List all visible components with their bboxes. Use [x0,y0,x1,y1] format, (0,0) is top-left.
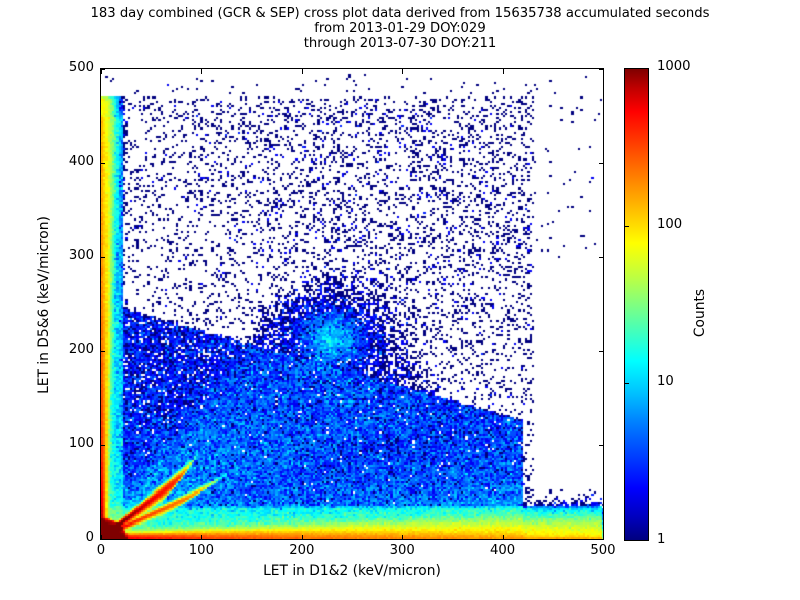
figure-title: 183 day combined (GCR & SEP) cross plot … [0,6,800,51]
y-tick-400 [100,163,105,164]
y-tick-500 [100,69,105,70]
x-tick-300 [402,535,403,540]
title-line-2: from 2013-01-29 DOY:029 [0,21,800,36]
y-tick-right-400 [599,163,604,164]
colorbar-tick-100 [624,226,629,227]
x-tick-top-200 [302,69,303,74]
plot-area [100,68,604,540]
title-line-1: 183 day combined (GCR & SEP) cross plot … [0,6,800,21]
colorbar [624,68,649,541]
title-line-3: through 2013-07-30 DOY:211 [0,36,800,51]
y-tick-100 [100,445,105,446]
x-tick-top-100 [201,69,202,74]
y-tick-right-500 [599,69,604,70]
figure-canvas: 183 day combined (GCR & SEP) cross plot … [0,0,800,600]
x-tick-label-100: 100 [166,543,236,558]
colorbar-tick-10 [624,383,629,384]
x-tick-top-400 [503,69,504,74]
x-tick-label-300: 300 [367,543,437,558]
y-tick-200 [100,351,105,352]
x-tick-200 [302,535,303,540]
y-tick-300 [100,257,105,258]
colorbar-tick-label-1: 1 [657,532,665,547]
x-tick-label-400: 400 [468,543,538,558]
x-tick-100 [201,535,202,540]
y-tick-right-100 [599,445,604,446]
y-tick-right-300 [599,257,604,258]
colorbar-tick-label-1000: 1000 [657,59,691,74]
x-tick-label-200: 200 [267,543,337,558]
y-axis-label: LET in D5&6 (keV/micron) [36,165,52,445]
y-tick-right-0 [599,539,604,540]
colorbar-tick-label-10: 10 [657,374,674,389]
y-tick-label-0: 0 [38,530,94,545]
x-axis-label: LET in D1&2 (keV/micron) [100,563,604,579]
y-tick-0 [100,539,105,540]
colorbar-label: Counts [692,223,708,403]
y-tick-label-500: 500 [38,60,94,75]
x-tick-top-300 [402,69,403,74]
colorbar-tick-label-100: 100 [657,217,682,232]
heatmap-data-layer [101,69,603,539]
x-tick-400 [503,535,504,540]
x-tick-label-500: 500 [568,543,638,558]
y-tick-right-200 [599,351,604,352]
x-tick-label-0: 0 [66,543,136,558]
